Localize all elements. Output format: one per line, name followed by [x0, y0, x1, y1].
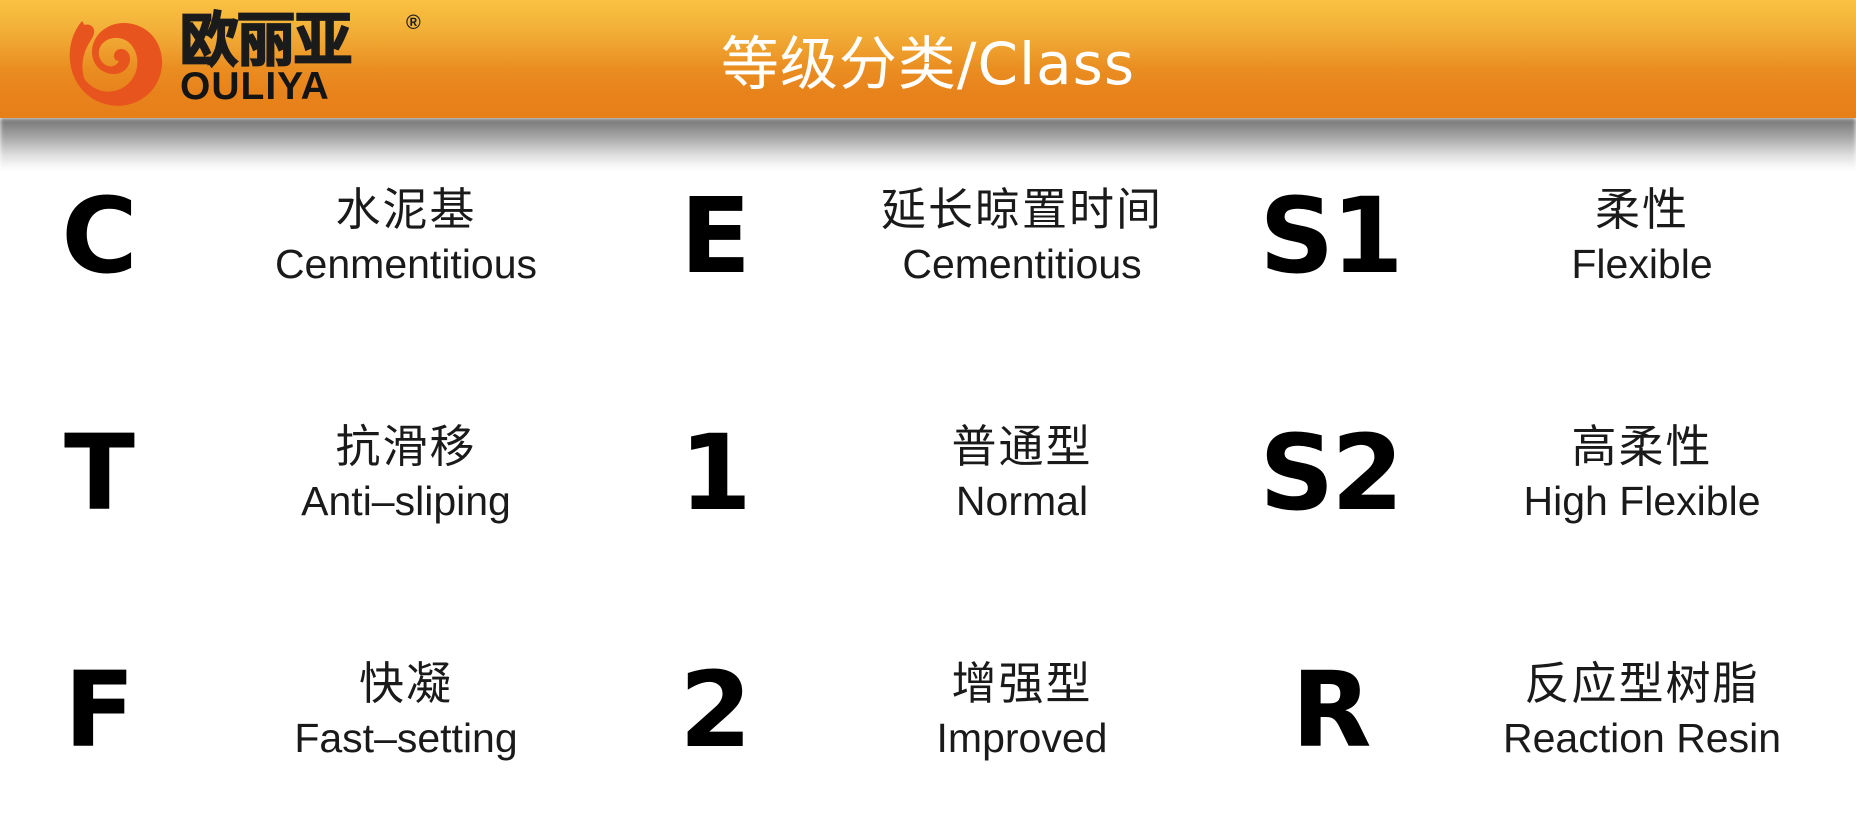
class-desc-cn: 快凝 [359, 657, 453, 710]
class-key-2: 2 [616, 591, 812, 828]
class-key-r: R [1232, 591, 1428, 828]
class-desc-s1: 柔性 Flexible [1428, 118, 1856, 355]
class-desc-en: Reaction Resin [1503, 714, 1781, 763]
class-desc-2: 增强型 Improved [812, 591, 1232, 828]
class-desc-f: 快凝 Fast–setting [196, 591, 616, 828]
class-desc-cn: 抗滑移 [335, 420, 476, 473]
class-desc-en: Cementitious [902, 240, 1141, 289]
class-key-f: F [0, 591, 196, 828]
registered-trademark-icon: ® [406, 13, 421, 33]
class-chart-page: 欧丽亚 ® OULIYA 等级分类/Class C 水泥基 Cenmentiti… [0, 0, 1856, 828]
brand-name-en: OULIYA [180, 67, 330, 106]
class-desc-cn: 增强型 [951, 657, 1092, 710]
class-desc-c: 水泥基 Cenmentitious [196, 118, 616, 355]
class-desc-en: Normal [956, 477, 1088, 526]
class-desc-en: Anti–sliping [301, 477, 511, 526]
class-key-e: E [616, 118, 812, 355]
class-desc-r: 反应型树脂 Reaction Resin [1428, 591, 1856, 828]
class-desc-cn: 水泥基 [335, 183, 476, 236]
class-key-c: C [0, 118, 196, 355]
class-key-s2: S2 [1232, 355, 1428, 592]
brand-name-cn: 欧丽亚 [180, 11, 351, 69]
class-desc-e: 延长晾置时间 Cementitious [812, 118, 1232, 355]
brand-wordmark: 欧丽亚 ® OULIYA [180, 9, 430, 109]
class-key-t: T [0, 355, 196, 592]
class-desc-1: 普通型 Normal [812, 355, 1232, 592]
class-desc-cn: 反应型树脂 [1524, 657, 1759, 710]
class-desc-en: Improved [937, 714, 1108, 763]
class-desc-t: 抗滑移 Anti–sliping [196, 355, 616, 592]
class-key-s1: S1 [1232, 118, 1428, 355]
class-desc-cn: 延长晾置时间 [881, 183, 1163, 236]
class-desc-en: Cenmentitious [275, 240, 537, 289]
class-desc-en: Fast–setting [294, 714, 517, 763]
header-bar: 欧丽亚 ® OULIYA 等级分类/Class [0, 0, 1856, 118]
class-desc-cn: 柔性 [1595, 183, 1689, 236]
class-desc-cn: 高柔性 [1571, 420, 1712, 473]
class-table: C 水泥基 Cenmentitious E 延长晾置时间 Cementitiou… [0, 118, 1856, 828]
class-desc-en: Flexible [1571, 240, 1712, 289]
brand-logo: 欧丽亚 ® OULIYA [62, 6, 430, 112]
class-desc-s2: 高柔性 High Flexible [1428, 355, 1856, 592]
class-key-1: 1 [616, 355, 812, 592]
class-desc-en: High Flexible [1524, 477, 1761, 526]
spiral-swirl-logo-icon [62, 7, 166, 111]
class-desc-cn: 普通型 [951, 420, 1092, 473]
